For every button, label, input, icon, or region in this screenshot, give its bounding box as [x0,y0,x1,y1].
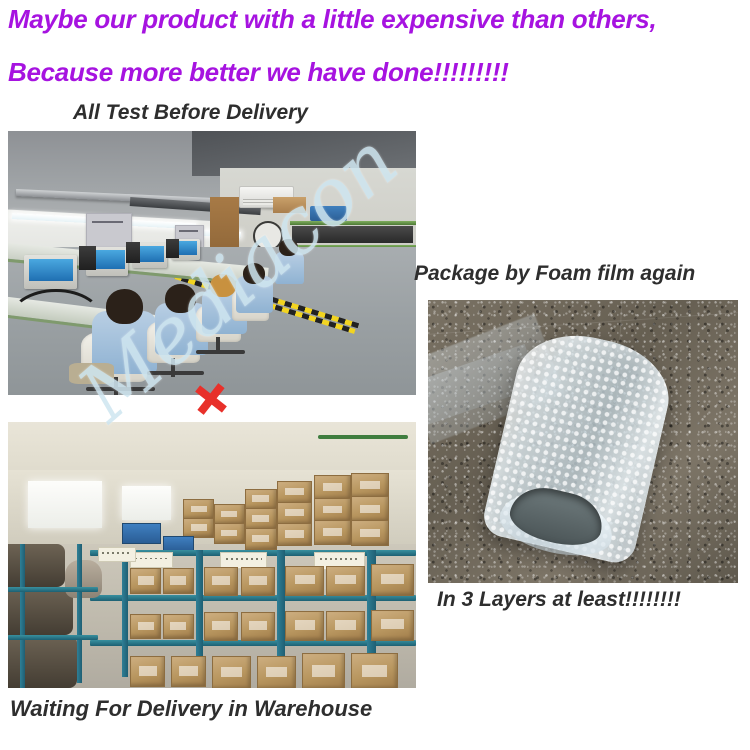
carton-box [351,520,390,546]
carton-box [314,520,351,545]
carton-box [245,489,278,511]
headline-line-2: Because more better we have done!!!!!!!!… [8,57,509,88]
blue-crate [122,523,161,544]
carton-box [245,528,278,550]
factory-scene [8,131,416,395]
photo-warehouse [8,422,416,688]
goods-pile [8,544,65,587]
hanging-cable [8,289,104,353]
rack-parts [292,226,413,242]
carton-box [163,614,194,640]
test-equipment-unit [166,239,178,257]
worker-body [275,252,304,284]
carton-box [241,567,276,596]
worker-head [279,239,297,256]
carton-box [183,499,214,520]
caption-in-3-layers-at-least: In 3 Layers at least!!!!!!!! [437,588,681,612]
carton-box [351,496,390,522]
carton-box [277,481,312,504]
rack-beam [8,635,98,640]
carton-box [326,611,365,641]
goods-pile [8,587,73,635]
warehouse-window [122,486,171,521]
warehouse-window [28,481,101,529]
worker-head [106,289,143,323]
factory-blue-bin [310,206,347,221]
carton-box [130,568,161,594]
rack-shelf [290,221,416,225]
carton-box [285,611,324,641]
chair-post [114,377,118,395]
factory-stored-carton [273,197,306,213]
carton-box [371,610,414,641]
carton-box [241,612,276,641]
worker-head [243,263,265,284]
carton-box [314,498,351,523]
rack-upright [122,550,128,678]
crt-monitor [24,255,77,289]
bubble-wrap-scene [428,300,738,583]
chair-base [86,387,155,391]
chair-base [196,350,245,354]
carton-box [212,656,251,688]
rack-upright [20,544,25,688]
carton-box [130,656,165,687]
carton-box [351,473,390,499]
rack-beam [8,587,98,592]
carton-box [257,656,296,688]
test-equipment-unit [126,242,140,263]
goods-pile [8,635,77,688]
carton-box [214,523,245,544]
carton-box [130,614,161,640]
caption-all-test-before-delivery: All Test Before Delivery [73,101,308,125]
carton-box [277,502,312,525]
worker-legs [69,363,114,384]
carton-box [204,612,239,641]
warehouse-scene [8,422,416,688]
carton-box [171,656,206,687]
carton-box [214,504,245,525]
headline-line-1: Maybe our product with a little expensiv… [8,4,656,35]
shelf-label [130,552,173,567]
ceiling-beam [318,435,408,439]
caption-waiting-for-delivery: Waiting For Delivery in Warehouse [10,696,372,722]
chair-base [147,371,204,375]
carton-box [163,568,194,594]
carton-box [371,564,414,595]
carton-box [302,653,345,688]
carton-box [204,567,239,596]
worker-head [165,284,196,313]
carton-box [277,523,312,546]
carton-box [326,566,365,596]
carton-box [285,566,324,596]
rack-upright [77,544,82,682]
photo-factory-test-line [8,131,416,395]
carton-box [351,653,398,688]
carton-box [183,518,214,539]
test-equipment-unit [79,246,95,270]
photo-bubble-wrapped-product [428,300,738,583]
shelf-label [98,547,137,562]
white-sack [65,560,102,597]
carton-box [314,475,351,500]
caption-package-by-foam-film: Package by Foam film again [414,262,695,286]
carton-box [245,508,278,530]
